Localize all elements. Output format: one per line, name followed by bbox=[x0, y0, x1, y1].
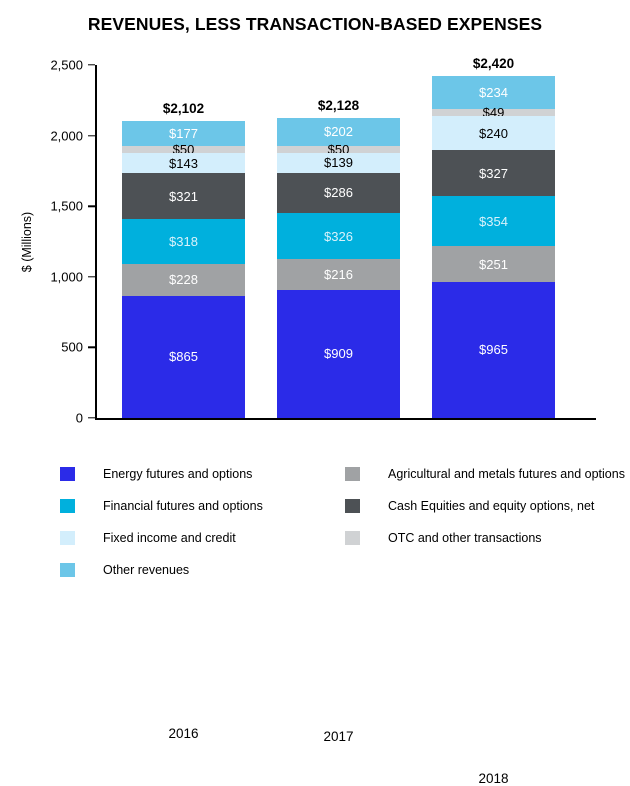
bar-segment[interactable]: $177 bbox=[122, 121, 245, 146]
legend-color-swatch bbox=[60, 467, 75, 481]
bar-segment-value-label: $240 bbox=[479, 127, 508, 140]
bar-total-label: $2,128 bbox=[277, 98, 400, 113]
legend-color-swatch bbox=[60, 499, 75, 513]
bar-segment[interactable]: $143 bbox=[122, 153, 245, 173]
stacked-bar-chart: REVENUES, LESS TRANSACTION-BASED EXPENSE… bbox=[0, 0, 630, 606]
bar-group[interactable]: $202$50$139$286$326$216$909$2,1282017 bbox=[277, 118, 400, 418]
bar-total-label: $2,102 bbox=[122, 101, 245, 116]
bar-segment[interactable]: $202 bbox=[277, 118, 400, 147]
bar-segment[interactable]: $909 bbox=[277, 290, 400, 418]
x-axis-category-label: 2016 bbox=[122, 726, 245, 741]
legend-item[interactable]: Other revenues bbox=[60, 554, 340, 586]
plot-area: $ (Millions) 05001,0001,5002,0002,500 $1… bbox=[95, 65, 596, 418]
bar-stack: $234$49$240$327$354$251$965 bbox=[432, 76, 555, 418]
bar-segment-value-label: $139 bbox=[324, 156, 353, 169]
bar-segment-value-label: $909 bbox=[324, 347, 353, 360]
legend-item[interactable]: Energy futures and options bbox=[60, 458, 340, 490]
y-axis-tick-label: 0 bbox=[21, 411, 95, 426]
bar-segment-value-label: $202 bbox=[324, 125, 353, 138]
bar-segment[interactable]: $286 bbox=[277, 173, 400, 213]
bar-segment-value-label: $143 bbox=[169, 157, 198, 170]
legend-color-swatch bbox=[60, 563, 75, 577]
bar-segment[interactable]: $326 bbox=[277, 213, 400, 259]
legend-column-right: Agricultural and metals futures and opti… bbox=[345, 458, 630, 554]
bar-segment[interactable]: $865 bbox=[122, 296, 245, 418]
y-axis-tick-label: 500 bbox=[21, 340, 95, 355]
bar-segment[interactable]: $318 bbox=[122, 219, 245, 264]
legend-label: Cash Equities and equity options, net bbox=[388, 499, 594, 513]
bar-stack: $202$50$139$286$326$216$909 bbox=[277, 118, 400, 418]
bar-segment-value-label: $865 bbox=[169, 350, 198, 363]
x-axis-line bbox=[95, 418, 596, 420]
chart-title: REVENUES, LESS TRANSACTION-BASED EXPENSE… bbox=[0, 14, 630, 35]
legend-item[interactable]: Agricultural and metals futures and opti… bbox=[345, 458, 630, 490]
chart-legend: Energy futures and optionsFinancial futu… bbox=[0, 458, 630, 598]
bar-segment[interactable]: $139 bbox=[277, 153, 400, 173]
y-axis-tick-mark bbox=[88, 347, 95, 348]
bar-segment[interactable]: $354 bbox=[432, 196, 555, 246]
bar-segment-value-label: $228 bbox=[169, 273, 198, 286]
bar-segment-value-label: $234 bbox=[479, 86, 508, 99]
legend-item[interactable]: Fixed income and credit bbox=[60, 522, 340, 554]
legend-item[interactable]: OTC and other transactions bbox=[345, 522, 630, 554]
legend-label: Agricultural and metals futures and opti… bbox=[388, 467, 625, 481]
bar-segment-value-label: $321 bbox=[169, 190, 198, 203]
bar-segment-value-label: $318 bbox=[169, 235, 198, 248]
bar-segment[interactable]: $240 bbox=[432, 116, 555, 150]
y-axis-title: $ (Millions) bbox=[20, 211, 34, 271]
bar-segment-value-label: $965 bbox=[479, 343, 508, 356]
bar-segment-value-label: $251 bbox=[479, 258, 508, 271]
y-axis-tick-mark bbox=[88, 276, 95, 277]
bar-segment-value-label: $354 bbox=[479, 215, 508, 228]
x-axis-category-label: 2017 bbox=[277, 729, 400, 744]
y-axis-tick-label: 1,500 bbox=[21, 199, 95, 214]
legend-label: Financial futures and options bbox=[103, 499, 263, 513]
bar-segment-value-label: $327 bbox=[479, 167, 508, 180]
bar-segment-value-label: $326 bbox=[324, 230, 353, 243]
legend-color-swatch bbox=[60, 531, 75, 545]
bar-segment-value-label: $177 bbox=[169, 127, 198, 140]
bar-segment[interactable]: $216 bbox=[277, 259, 400, 289]
legend-label: Energy futures and options bbox=[103, 467, 252, 481]
bar-segment[interactable]: $251 bbox=[432, 246, 555, 281]
y-axis-tick-label: 1,000 bbox=[21, 269, 95, 284]
bar-segment-value-label: $216 bbox=[324, 268, 353, 281]
legend-column-left: Energy futures and optionsFinancial futu… bbox=[60, 458, 340, 586]
bar-segment[interactable]: $228 bbox=[122, 264, 245, 296]
x-axis-category-label: 2018 bbox=[432, 771, 555, 786]
y-axis-tick-mark bbox=[88, 64, 95, 65]
bar-segment[interactable]: $50 bbox=[277, 146, 400, 153]
legend-label: Fixed income and credit bbox=[103, 531, 236, 545]
bar-group[interactable]: $177$50$143$321$318$228$865$2,1022016 bbox=[122, 121, 245, 418]
y-axis-tick-mark bbox=[88, 417, 95, 418]
y-axis-tick-label: 2,500 bbox=[21, 58, 95, 73]
bar-group[interactable]: $234$49$240$327$354$251$965$2,4202018 bbox=[432, 76, 555, 418]
bar-segment[interactable]: $321 bbox=[122, 173, 245, 218]
legend-label: OTC and other transactions bbox=[388, 531, 542, 545]
bar-total-label: $2,420 bbox=[432, 56, 555, 71]
legend-color-swatch bbox=[345, 499, 360, 513]
bar-segment[interactable]: $965 bbox=[432, 282, 555, 418]
legend-color-swatch bbox=[345, 467, 360, 481]
legend-item[interactable]: Financial futures and options bbox=[60, 490, 340, 522]
bar-segment[interactable]: $50 bbox=[122, 146, 245, 153]
y-axis-tick-label: 2,000 bbox=[21, 128, 95, 143]
bar-segment[interactable]: $327 bbox=[432, 150, 555, 196]
y-axis-tick-mark bbox=[88, 205, 95, 206]
legend-item[interactable]: Cash Equities and equity options, net bbox=[345, 490, 630, 522]
legend-label: Other revenues bbox=[103, 563, 189, 577]
y-axis-tick-mark bbox=[88, 135, 95, 136]
bar-segment[interactable]: $234 bbox=[432, 76, 555, 109]
bar-stack: $177$50$143$321$318$228$865 bbox=[122, 121, 245, 418]
bar-segment[interactable]: $49 bbox=[432, 109, 555, 116]
bar-segment-value-label: $286 bbox=[324, 186, 353, 199]
legend-color-swatch bbox=[345, 531, 360, 545]
